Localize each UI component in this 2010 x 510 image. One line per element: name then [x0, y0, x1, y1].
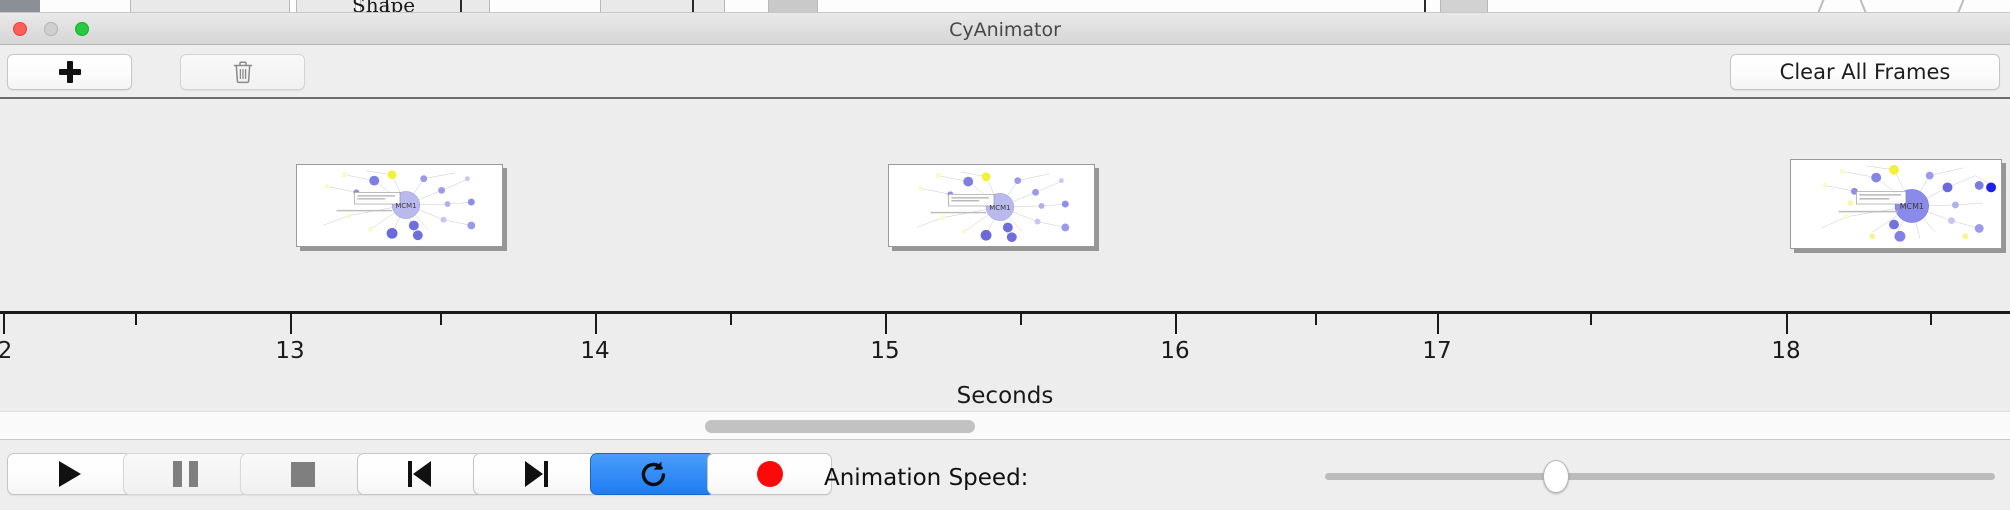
skip-previous-button[interactable]: [357, 453, 482, 495]
skip-next-button[interactable]: [473, 453, 598, 495]
skip-next-icon: [524, 461, 548, 487]
network-thumbnail-graphic: MCM1: [297, 165, 502, 246]
background-segment: [296, 0, 356, 12]
background-shape-label: Shape: [352, 0, 415, 13]
timeline-frame-thumbnail[interactable]: MCM1: [296, 164, 503, 247]
background-tick: [460, 0, 462, 12]
trash-icon: [232, 60, 254, 84]
axis-tick: [1315, 314, 1317, 325]
axis-tick-label: 17: [1422, 338, 1451, 364]
clear-all-frames-button[interactable]: Clear All Frames: [1730, 54, 2000, 90]
animation-speed-slider[interactable]: [1325, 465, 1995, 487]
svg-text:MCM1: MCM1: [1900, 202, 1924, 211]
axis-tick-label: 2: [0, 338, 12, 364]
play-icon: [59, 461, 81, 487]
axis-tick: [885, 314, 887, 334]
axis-tick: [730, 314, 732, 325]
background-tick: [1424, 0, 1426, 12]
title-bar: CyAnimator: [0, 13, 2010, 45]
stop-button[interactable]: [240, 453, 365, 495]
axis-tick: [1437, 314, 1439, 334]
pause-icon: [173, 461, 198, 487]
axis-tick: [1020, 314, 1022, 325]
slider-thumb[interactable]: [1543, 460, 1569, 493]
playback-bar: Animation Speed:: [0, 439, 2010, 510]
timeline-scrollbar-thumb[interactable]: [705, 420, 975, 433]
skip-previous-icon: [408, 461, 432, 487]
axis-tick: [1930, 314, 1932, 325]
network-thumbnail-graphic: MCM1: [889, 165, 1094, 246]
background-segment: [768, 0, 818, 12]
window-title: CyAnimator: [0, 19, 2010, 41]
frames-layer: MCM1: [0, 99, 2010, 311]
background-diagonal: [1956, 0, 1965, 13]
axis-tick-label: 14: [580, 338, 609, 364]
axis-tick-label: 13: [275, 338, 304, 364]
axis-tick-label: 18: [1771, 338, 1800, 364]
background-diagonal: [1816, 0, 1825, 13]
axis-tick: [1590, 314, 1592, 325]
background-windows-strip: Shape: [0, 0, 2010, 13]
background-segment: [600, 0, 725, 12]
slider-track: [1325, 473, 1995, 480]
timeline-scrollbar[interactable]: [0, 411, 2010, 439]
axis-tick: [1175, 314, 1177, 334]
record-icon: [757, 461, 783, 487]
pause-button[interactable]: [123, 453, 248, 495]
axis-tick-label: 16: [1160, 338, 1189, 364]
background-segment: [1440, 0, 1488, 12]
stop-icon: [291, 462, 315, 487]
background-segment: [130, 0, 290, 12]
network-thumbnail-graphic: MCM1: [1791, 160, 2001, 248]
cyanimator-window: Shape CyAnimator Clear All Frames: [0, 0, 2010, 510]
svg-text:MCM1: MCM1: [989, 204, 1010, 212]
animation-speed-label: Animation Speed:: [824, 465, 1028, 491]
axis-tick: [595, 314, 597, 334]
timeline-frame-thumbnail[interactable]: MCM1: [1790, 159, 2002, 249]
timeline-axis-line: [0, 311, 2010, 314]
play-button[interactable]: [7, 453, 132, 495]
axis-tick: [440, 314, 442, 325]
background-diagonal: [1858, 0, 1867, 13]
loop-icon: [638, 459, 668, 489]
background-dark-tab: [0, 0, 40, 12]
axis-tick: [290, 314, 292, 334]
axis-tick: [3, 314, 5, 334]
axis-tick: [135, 314, 137, 325]
toolbar: Clear All Frames: [0, 45, 2010, 99]
background-tick: [692, 0, 694, 12]
record-button[interactable]: [707, 453, 832, 495]
svg-text:MCM1: MCM1: [395, 202, 416, 210]
delete-frame-button[interactable]: [180, 54, 305, 90]
loop-button[interactable]: [590, 453, 715, 495]
timeline-panel[interactable]: MCM1: [0, 99, 2010, 411]
axis-tick-label: 15: [870, 338, 899, 364]
plus-icon: [59, 61, 81, 83]
axis-title: Seconds: [0, 383, 2010, 409]
clear-all-frames-label: Clear All Frames: [1780, 60, 1951, 84]
axis-tick: [1786, 314, 1788, 334]
timeline-frame-thumbnail[interactable]: MCM1: [888, 164, 1095, 247]
add-frame-button[interactable]: [7, 54, 132, 90]
